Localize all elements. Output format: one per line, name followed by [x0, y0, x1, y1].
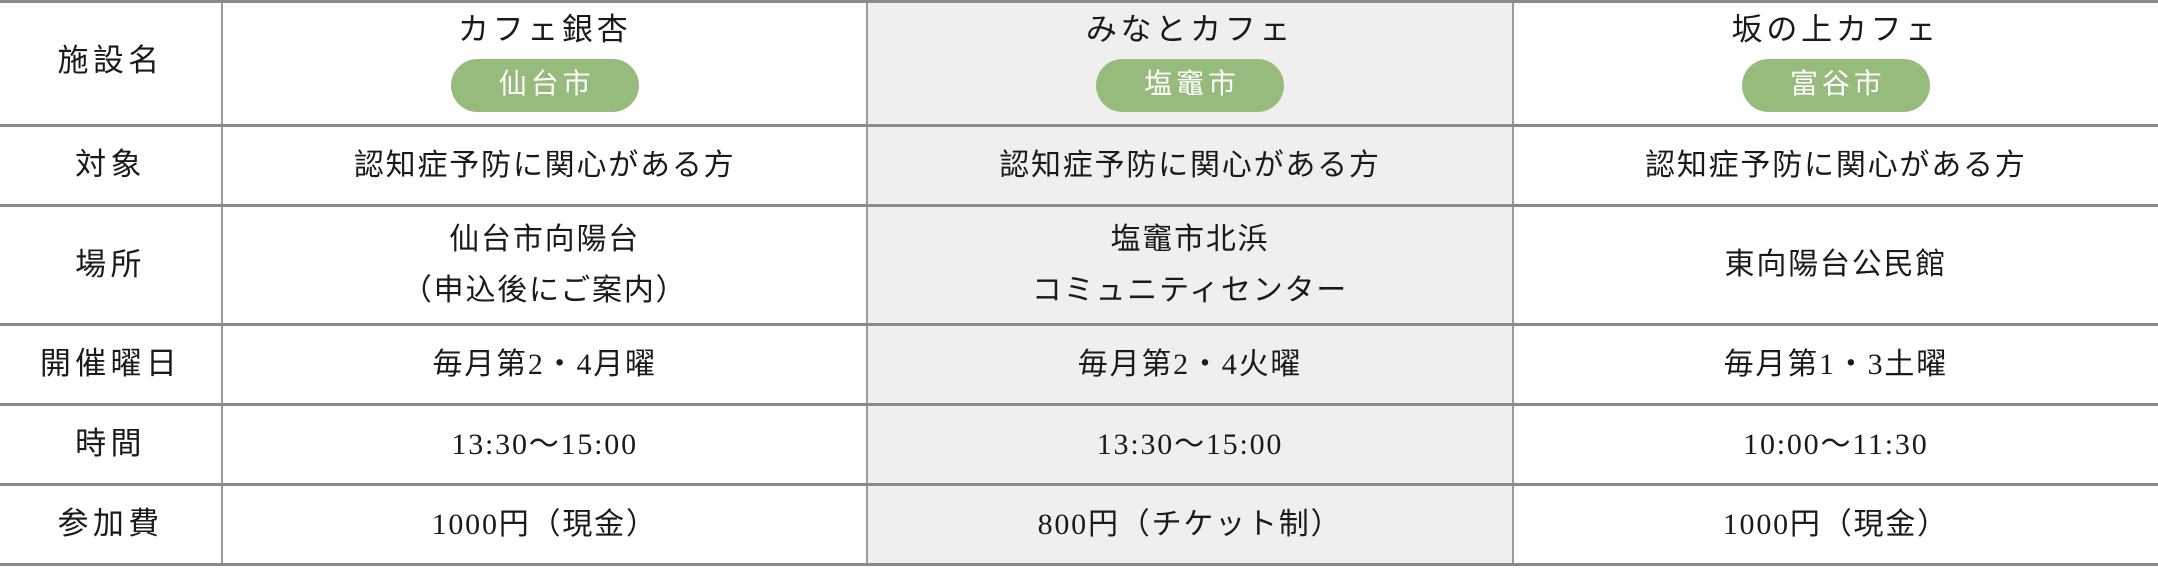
- fee-cell-2: 800円（チケット制）: [867, 484, 1512, 564]
- row-label-facility: 施設名: [0, 2, 222, 126]
- time-cell-1: 13:30〜15:00: [222, 404, 867, 484]
- row-label-target: 対象: [0, 125, 222, 205]
- facility-name-1: カフェ銀杏: [237, 11, 852, 50]
- facility-name-2: みなとカフェ: [882, 11, 1497, 50]
- fee-cell-3: 1000円（現金）: [1513, 484, 2158, 564]
- place-line: （申込後にご案内）: [237, 268, 852, 313]
- target-cell-1: 認知症予防に関心がある方: [222, 125, 867, 205]
- fee-cell-1: 1000円（現金）: [222, 484, 867, 564]
- row-label-weekday: 開催曜日: [0, 324, 222, 404]
- time-cell-2: 13:30〜15:00: [867, 404, 1512, 484]
- table-row-fee: 参加費 1000円（現金） 800円（チケット制） 1000円（現金）: [0, 484, 2158, 564]
- facility-header-cell-2: みなとカフェ 塩竈市: [867, 2, 1512, 126]
- place-cell-2: 塩竈市北浜 コミュニティセンター: [867, 205, 1512, 324]
- place-line: コミュニティセンター: [882, 268, 1497, 313]
- time-cell-3: 10:00〜11:30: [1513, 404, 2158, 484]
- city-badge-3: 富谷市: [1742, 59, 1930, 112]
- table-row-target: 対象 認知症予防に関心がある方 認知症予防に関心がある方 認知症予防に関心がある…: [0, 125, 2158, 205]
- weekday-cell-2: 毎月第2・4火曜: [867, 324, 1512, 404]
- row-label-place: 場所: [0, 205, 222, 324]
- table-row-weekday: 開催曜日 毎月第2・4月曜 毎月第2・4火曜 毎月第1・3土曜: [0, 324, 2158, 404]
- row-label-fee: 参加費: [0, 484, 222, 564]
- place-line: 仙台市向陽台: [237, 217, 852, 262]
- target-cell-2: 認知症予防に関心がある方: [867, 125, 1512, 205]
- table-row-facility-name: 施設名 カフェ銀杏 仙台市 みなとカフェ 塩竈市 坂の上カフェ 富谷市: [0, 2, 2158, 126]
- table-row-time: 時間 13:30〜15:00 13:30〜15:00 10:00〜11:30: [0, 404, 2158, 484]
- city-badge-1: 仙台市: [451, 59, 639, 112]
- table-row-place: 場所 仙台市向陽台 （申込後にご案内） 塩竈市北浜 コミュニティセンター 東向陽…: [0, 205, 2158, 324]
- facility-header-cell-3: 坂の上カフェ 富谷市: [1513, 2, 2158, 126]
- place-line: 東向陽台公民館: [1528, 242, 2144, 287]
- facility-name-3: 坂の上カフェ: [1528, 11, 2144, 50]
- place-line: 塩竈市北浜: [882, 217, 1497, 262]
- city-badge-2: 塩竈市: [1096, 59, 1284, 112]
- row-label-time: 時間: [0, 404, 222, 484]
- facility-comparison-table-wrapper: 施設名 カフェ銀杏 仙台市 みなとカフェ 塩竈市 坂の上カフェ 富谷市 対象 認…: [0, 0, 2158, 572]
- place-cell-1: 仙台市向陽台 （申込後にご案内）: [222, 205, 867, 324]
- weekday-cell-1: 毎月第2・4月曜: [222, 324, 867, 404]
- weekday-cell-3: 毎月第1・3土曜: [1513, 324, 2158, 404]
- facility-header-cell-1: カフェ銀杏 仙台市: [222, 2, 867, 126]
- place-cell-3: 東向陽台公民館: [1513, 205, 2158, 324]
- facility-comparison-table: 施設名 カフェ銀杏 仙台市 みなとカフェ 塩竈市 坂の上カフェ 富谷市 対象 認…: [0, 0, 2158, 566]
- target-cell-3: 認知症予防に関心がある方: [1513, 125, 2158, 205]
